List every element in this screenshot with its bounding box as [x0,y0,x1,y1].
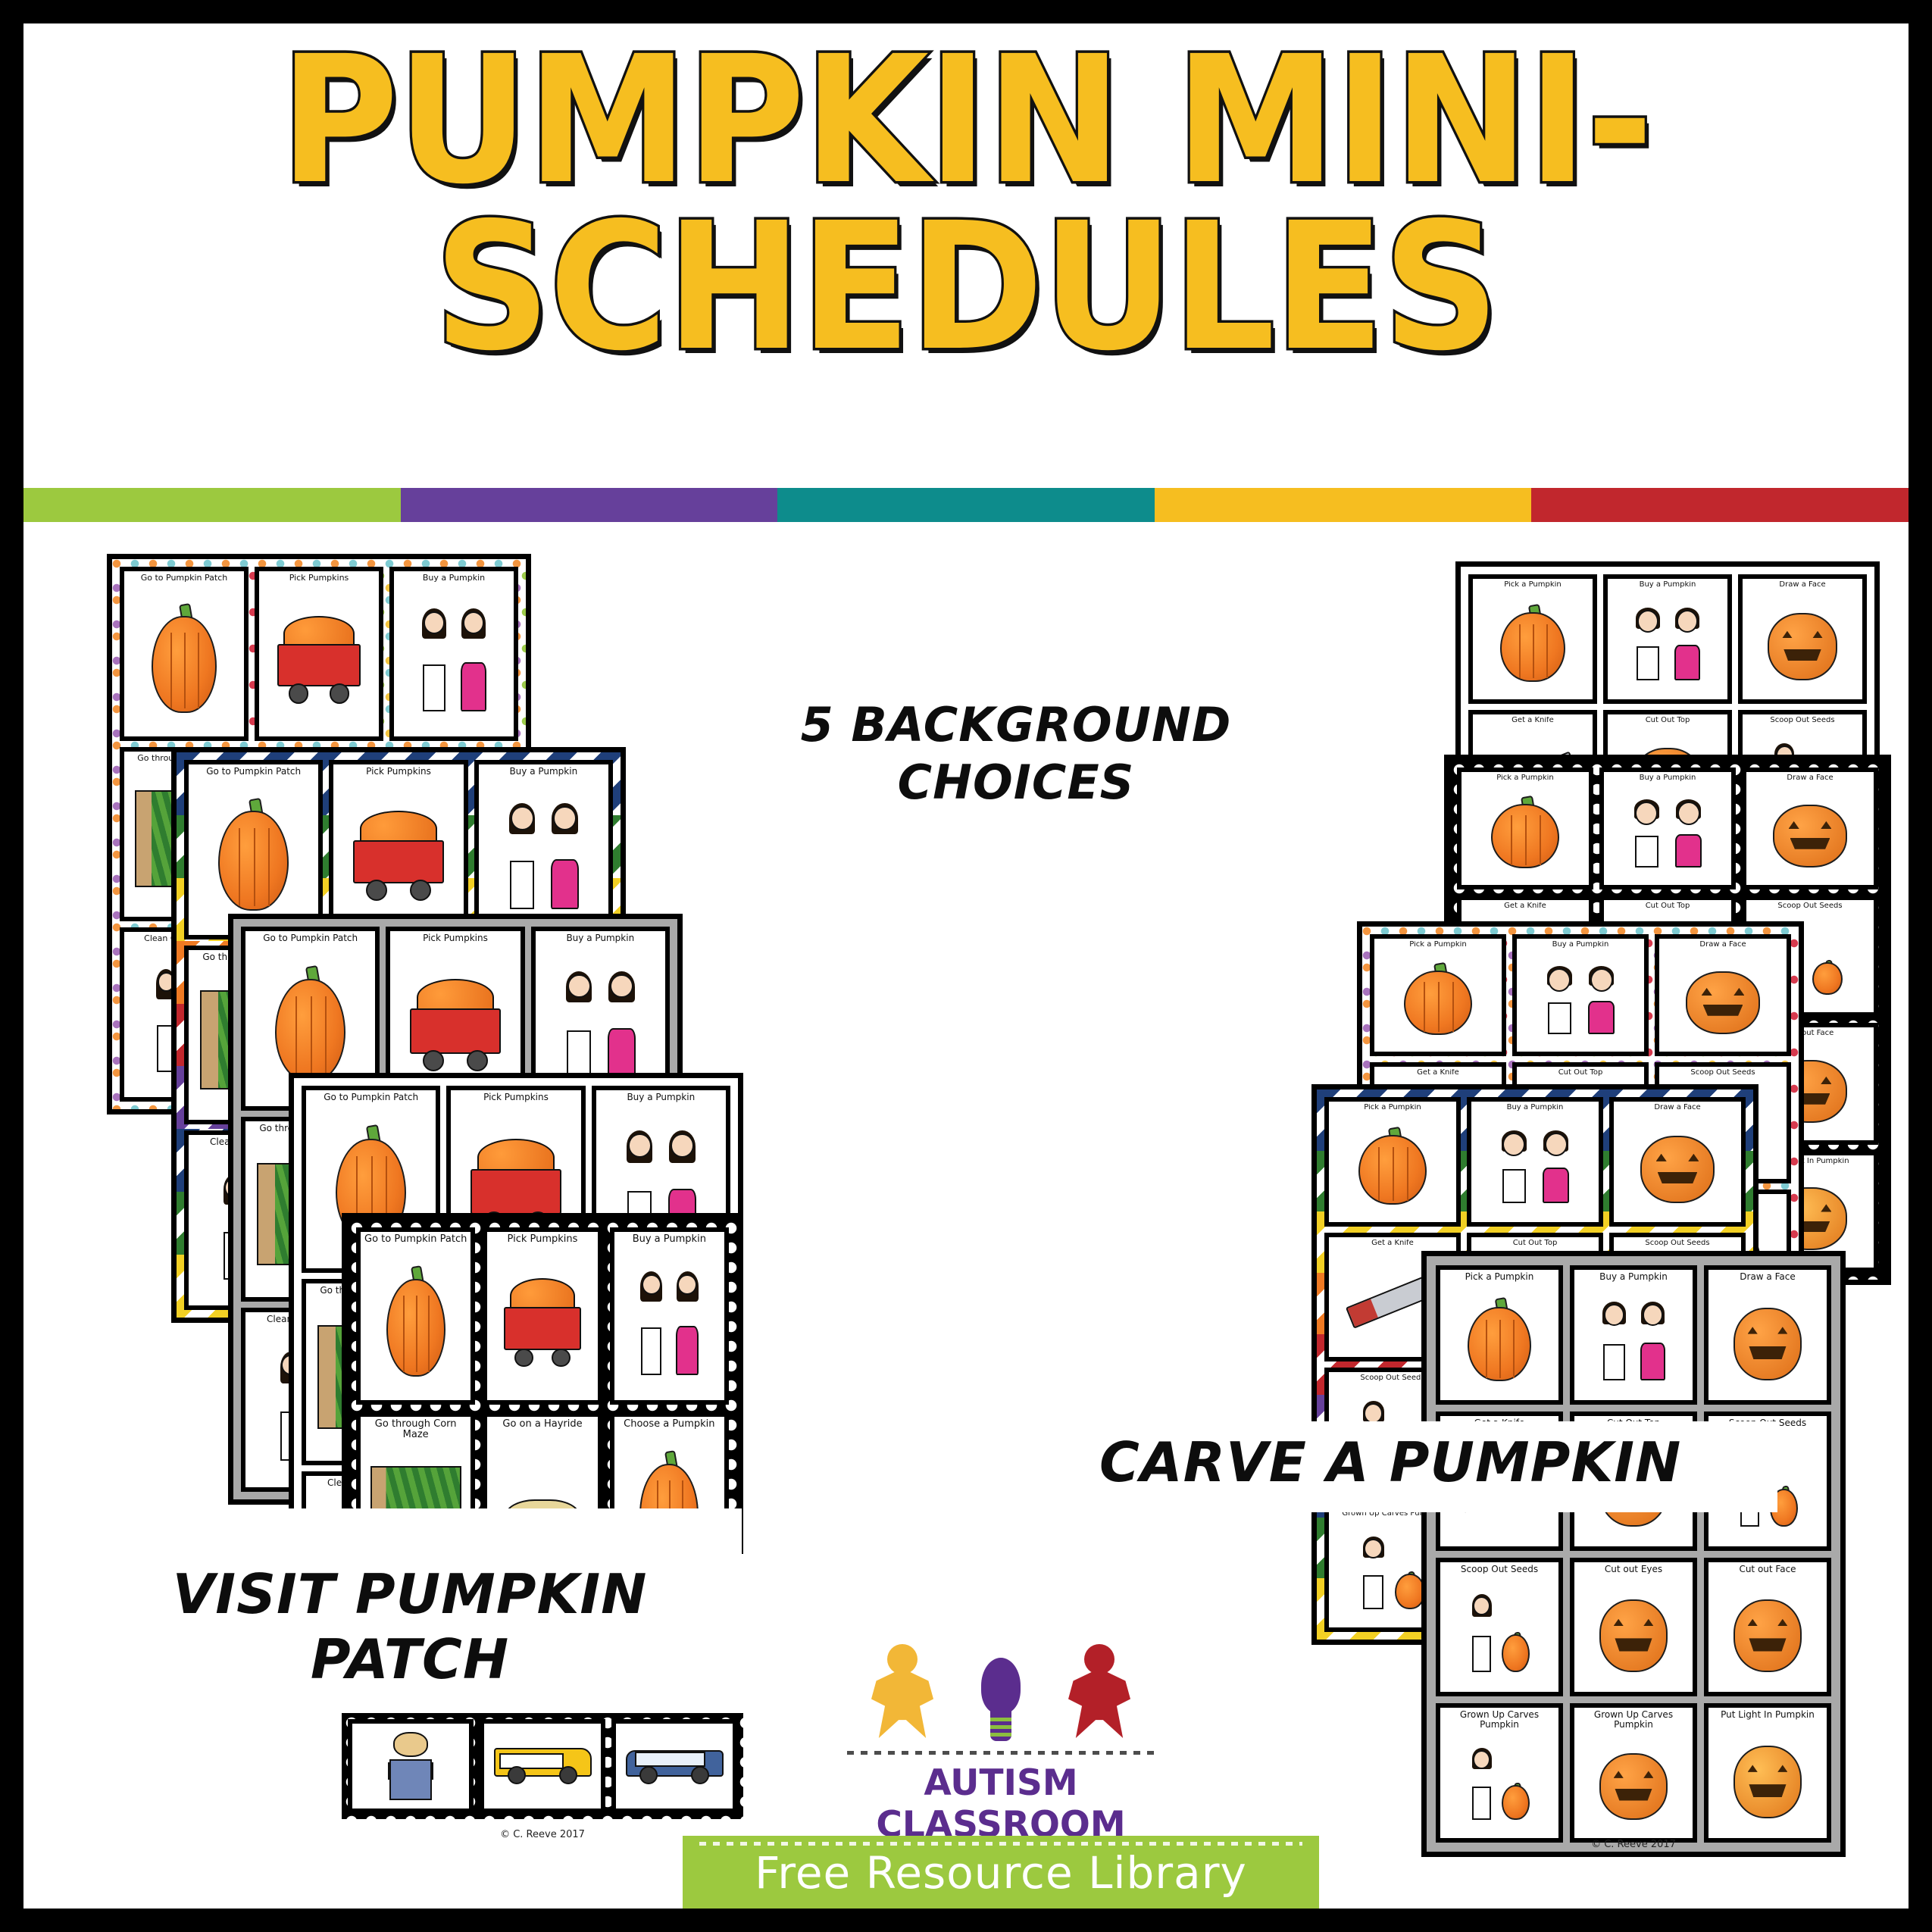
poster-sheet: PUMPKIN MINI- SCHEDULES 5 BACKGROUND CHO… [23,23,1909,1909]
logo-name: AUTISM CLASSROOM [838,1762,1164,1846]
schedule-card-label: Cut Out Top [1609,717,1726,725]
schedule-card-label: Cut out Eyes [1576,1565,1691,1574]
schedule-card[interactable]: Pick Pumpkins [255,567,383,741]
schedule-card[interactable]: Cut out Eyes [1570,1558,1697,1697]
schedule-card-label: Draw a Face [1710,1272,1825,1282]
card-art-single-pumpkin [1330,1112,1455,1220]
schedule-card[interactable]: Buy a Pumpkin [474,760,613,939]
card-art-drawing-face-on-pumpkin [1661,949,1785,1049]
schedule-card[interactable]: Go to Pumpkin Patch [120,567,249,741]
schedule-card[interactable]: Scoop Out Seeds [1436,1558,1563,1697]
card-art-wagon-of-pumpkins [335,777,461,933]
card-art-pumpkins [190,777,317,933]
card-art-carved-face [1710,1574,1825,1690]
visit-extra-row[interactable]: © C. Reeve 2017 [342,1713,743,1819]
card-art-single-pumpkin [1376,949,1500,1049]
card-art-single-pumpkin [1474,589,1591,697]
schedule-card[interactable]: Pick a Pumpkin [1324,1097,1461,1227]
heading-carve-a-pumpkin-front: CARVE A PUMPKIN [1099,1433,1766,1493]
schedule-card-label: Draw a Face [1615,1104,1740,1112]
color-swatch-purple [401,488,778,522]
card-art-wagon-of-pumpkins [489,1245,596,1398]
color-swatch-green [23,488,401,522]
schedule-card[interactable]: Go to Pumpkin Patch [184,760,323,939]
schedule-card-label: Buy a Pumpkin [1605,774,1730,783]
schedule-card-label: Pick a Pumpkin [1442,1272,1557,1282]
card-art-two-kids-with-pumpkin [1609,589,1726,697]
schedule-card[interactable]: Draw a Face [1609,1097,1746,1227]
schedule-card-label: Buy a Pumpkin [537,933,664,943]
card-art-single-pumpkin [1463,783,1587,883]
card-art-scooping-seeds [1442,1574,1557,1690]
schedule-card-label: Put Light In Pumpkin [1710,1710,1825,1720]
schedule-card[interactable]: Buy a Pumpkin [1512,934,1649,1056]
schedule-card-label: Pick Pumpkins [335,767,461,777]
schedule-card[interactable]: Put Light In Pumpkin [1704,1703,1831,1843]
card-art-two-kids-with-pumpkin [1473,1112,1597,1220]
schedule-card[interactable]: Draw a Face [1738,574,1867,704]
schedule-card[interactable]: Buy a Pumpkin [389,567,518,741]
schedule-card-label: Choose a Pumpkin [616,1419,723,1430]
logo-divider-top [847,1751,1155,1755]
accent-color-bar [23,488,1909,522]
schedule-card-label: Pick Pumpkins [261,574,377,583]
logo-mark [838,1641,1164,1743]
card-art-two-kids-with-pumpkin [1518,949,1643,1049]
logo-divider-bottom [699,1842,1302,1846]
card-art-single-pumpkin [1442,1282,1557,1398]
schedule-card-label: Draw a Face [1748,774,1872,783]
card-art-school-bus [486,1726,599,1806]
color-swatch-yellow [1155,488,1532,522]
schedule-card-label: Draw a Face [1661,941,1785,949]
schedule-card[interactable] [348,1719,474,1813]
card-art-two-kids-with-pumpkin [395,583,512,734]
schedule-card-label: Go through Corn Maze [362,1419,469,1440]
card-art-two-kids-with-pumpkin [616,1245,723,1398]
schedule-card[interactable]: Cut out Face [1704,1558,1831,1697]
schedule-card[interactable]: Go to Pumpkin Patch [356,1227,475,1405]
card-art-drawing-face-on-pumpkin [1615,1112,1740,1220]
schedule-card[interactable]: Pick a Pumpkin [1457,767,1593,889]
card-art-two-kids-with-pumpkin [1605,783,1730,883]
schedule-card-label: Grown Up Carves Pumpkin [1576,1710,1691,1730]
schedule-card-label: Go to Pumpkin Patch [190,767,317,777]
lightbulb-icon [977,1658,1025,1741]
card-art-blue-van [617,1726,731,1806]
schedule-card[interactable]: Grown Up Carves Pumpkin [1436,1703,1563,1843]
figure-yellow-icon [870,1644,935,1740]
card-art-drawing-face-on-pumpkin [1748,783,1872,883]
schedule-card-label: Go to Pumpkin Patch [247,933,374,943]
schedule-card-label: Buy a Pumpkin [1473,1104,1597,1112]
schedule-card-label: Buy a Pumpkin [1518,941,1643,949]
heading-background-choices: 5 BACKGROUND CHOICES [751,696,1281,811]
schedule-card-label: Pick Pumpkins [489,1234,596,1245]
card-art-adult-carving [1442,1730,1557,1836]
schedule-card-label: Scoop Out Seeds [1615,1240,1740,1248]
schedule-card-label: Go to Pumpkin Patch [362,1234,469,1245]
title-line-1: PUMPKIN MINI- [99,37,1834,204]
color-swatch-teal [777,488,1155,522]
schedule-card[interactable]: Buy a Pumpkin [1599,767,1736,889]
schedule-card[interactable]: Pick a Pumpkin [1370,934,1506,1056]
schedule-card-label: Buy a Pumpkin [1609,581,1726,589]
schedule-card-label: Cut Out Top [1605,902,1730,911]
schedule-card-label: Get a Knife [1330,1240,1455,1248]
schedule-card-label: Buy a Pumpkin [480,767,607,777]
card-art-drawing-face-on-pumpkin [1744,589,1861,697]
card-art-lit-jack-o-lantern [1710,1720,1825,1836]
schedule-card[interactable]: Pick Pumpkins [329,760,467,939]
schedule-card[interactable]: Buy a Pumpkin [1467,1097,1603,1227]
schedule-card-label: Cut Out Top [1473,1240,1597,1248]
schedule-card-label: Pick a Pumpkin [1376,941,1500,949]
card-art-pumpkins [126,583,242,734]
schedule-card-label: Go on a Hayride [489,1419,596,1430]
free-resource-library-label: Free Resource Library [683,1847,1319,1899]
card-art-carved-jack-o-lantern [1576,1730,1691,1836]
schedule-card[interactable]: Pick a Pumpkin [1468,574,1597,704]
schedule-card[interactable]: Draw a Face [1655,934,1791,1056]
figure-red-icon [1067,1644,1132,1740]
carve-sheet-gray[interactable]: Pick a PumpkinBuy a PumpkinDraw a FaceGe… [1421,1251,1846,1857]
copyright-visit-bottom: © C. Reeve 2017 [342,1829,743,1840]
schedule-card[interactable]: Grown Up Carves Pumpkin [1570,1703,1697,1843]
schedule-card[interactable]: Draw a Face [1742,767,1878,889]
schedule-card[interactable]: Buy a Pumpkin [610,1227,729,1405]
card-art-wagon-of-pumpkins [261,583,377,734]
schedule-card[interactable]: Pick Pumpkins [483,1227,602,1405]
schedule-card-label: Pick Pumpkins [452,1093,579,1102]
schedule-card-label: Go to Pumpkin Patch [308,1093,434,1102]
schedule-card-label: Scoop Out Seeds [1442,1565,1557,1574]
schedule-card-label: Cut out Face [1710,1565,1825,1574]
schedule-card[interactable] [611,1719,737,1813]
free-resource-library-banner[interactable]: Free Resource Library [683,1836,1319,1909]
schedule-card[interactable] [480,1719,605,1813]
schedule-card-label: Buy a Pumpkin [395,574,512,583]
schedule-card[interactable]: Pick a Pumpkin [1436,1265,1563,1405]
card-art-two-kids-with-pumpkin [1576,1282,1691,1398]
heading-visit-pumpkin-patch-front: VISIT PUMPKIN PATCH [114,1562,705,1693]
card-art-pumpkins [362,1245,469,1398]
schedule-card-label: Pick a Pumpkin [1463,774,1587,783]
schedule-card-label: Pick a Pumpkin [1330,1104,1455,1112]
poster-root: PUMPKIN MINI- SCHEDULES 5 BACKGROUND CHO… [0,0,1932,1932]
card-art-drawing-face-on-pumpkin [1710,1282,1825,1398]
schedule-card-label: Get a Knife [1376,1069,1500,1077]
schedule-card-label: Scoop Out Seeds [1661,1069,1785,1077]
schedule-card-label: Draw a Face [1744,581,1861,589]
schedule-card-label: Scoop Out Seeds [1744,717,1861,725]
schedule-card[interactable]: Buy a Pumpkin [1570,1265,1697,1405]
color-swatch-red [1531,488,1909,522]
schedule-card[interactable]: Buy a Pumpkin [1603,574,1732,704]
schedule-card-label: Pick Pumpkins [392,933,518,943]
schedule-card-label: Get a Knife [1474,717,1591,725]
schedule-card-label: Buy a Pumpkin [598,1093,724,1102]
poster-title: PUMPKIN MINI- SCHEDULES [23,37,1909,371]
schedule-card-label: Get a Knife [1463,902,1587,911]
card-art-two-kids-with-pumpkin [480,777,607,933]
schedule-card-label: Grown Up Carves Pumpkin [1442,1710,1557,1730]
schedule-card-label: Pick a Pumpkin [1474,581,1591,589]
title-line-2: SCHEDULES [99,204,1834,370]
schedule-card-label: Buy a Pumpkin [1576,1272,1691,1282]
card-art-cutting-eyes [1576,1574,1691,1690]
card-art-scarecrow [354,1726,467,1806]
schedule-card-label: Go to Pumpkin Patch [126,574,242,583]
schedule-card-label: Cut Out Top [1518,1069,1643,1077]
schedule-card-label: Scoop Out Seeds [1748,902,1872,911]
schedule-card[interactable]: Draw a Face [1704,1265,1831,1405]
copyright-carve: © C. Reeve 2017 [1427,1839,1840,1850]
schedule-card-label: Buy a Pumpkin [616,1234,723,1245]
